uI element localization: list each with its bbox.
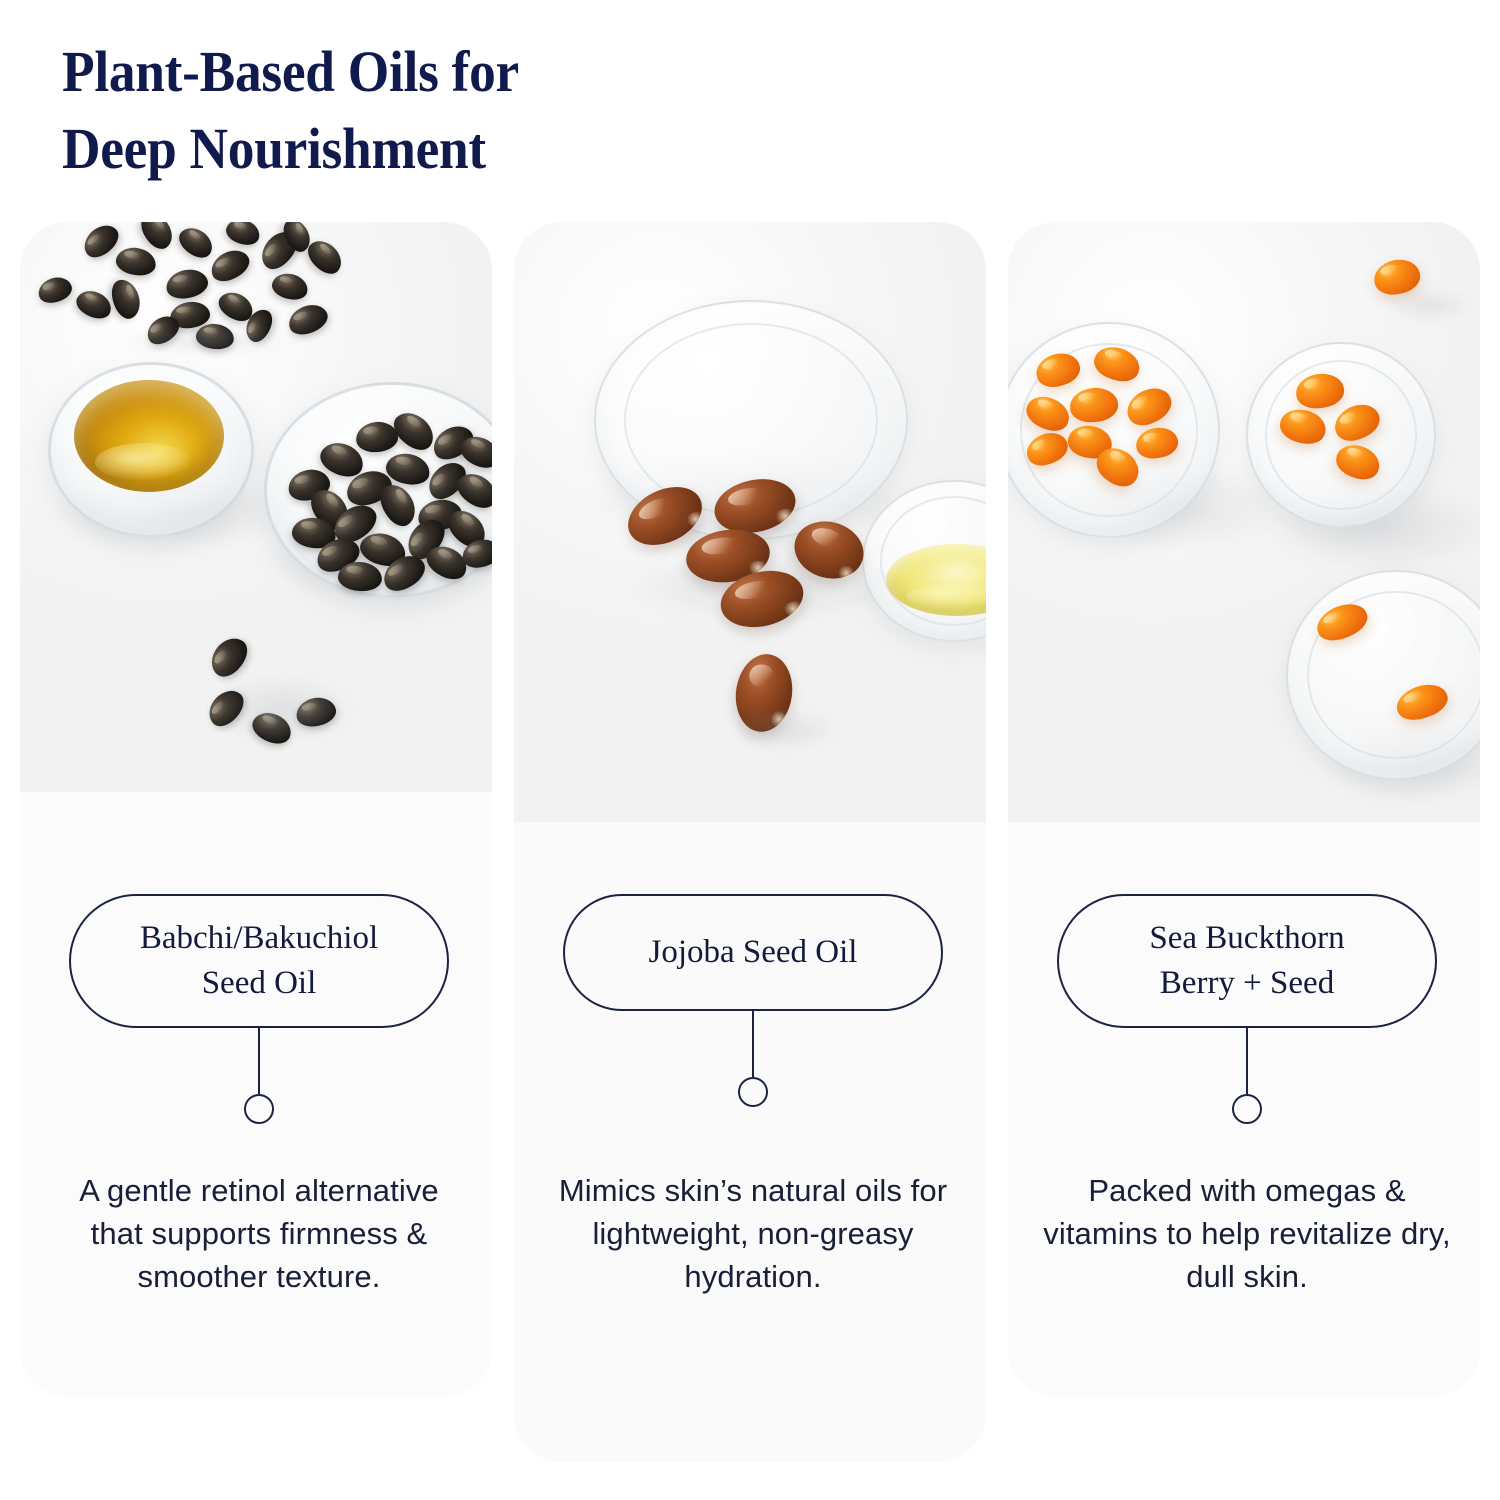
ingredient-pill-babchi[interactable]: Babchi/Bakuchiol Seed Oil bbox=[69, 894, 449, 1028]
connector-line bbox=[1246, 1028, 1248, 1094]
connector-node-circle bbox=[1232, 1094, 1262, 1124]
connector-node-circle bbox=[244, 1094, 274, 1124]
label-group-jojoba: Jojoba Seed Oil bbox=[514, 894, 986, 1107]
page-title-line-2: Deep Nourishment bbox=[62, 111, 890, 188]
ingredient-description-babchi: A gentle retinol alternative that suppor… bbox=[50, 1170, 468, 1298]
pill-line-2: Berry + Seed bbox=[1160, 965, 1334, 1001]
ingredient-card-babchi[interactable]: Babchi/Bakuchiol Seed Oil A gentle retin… bbox=[20, 222, 492, 1397]
ingredient-pill-jojoba[interactable]: Jojoba Seed Oil bbox=[563, 894, 943, 1011]
label-group-babchi: Babchi/Bakuchiol Seed Oil bbox=[20, 894, 492, 1124]
ingredient-card-grid: Babchi/Bakuchiol Seed Oil A gentle retin… bbox=[20, 222, 1480, 1472]
babchi-oil bbox=[74, 380, 224, 492]
pill-line-2: Seed Oil bbox=[202, 965, 317, 1001]
ingredient-photo-sea-buckthorn bbox=[1008, 222, 1480, 822]
ingredient-description-sea-buckthorn: Packed with omegas & vitamins to help re… bbox=[1038, 1170, 1456, 1298]
ingredient-pill-sea-buckthorn[interactable]: Sea Buckthorn Berry + Seed bbox=[1057, 894, 1437, 1028]
pill-line-1: Sea Buckthorn bbox=[1149, 920, 1344, 956]
pill-line-1: Babchi/Bakuchiol bbox=[140, 920, 378, 956]
ingredient-description-jojoba: Mimics skin’s natural oils for lightweig… bbox=[544, 1170, 962, 1298]
label-group-sea-buckthorn: Sea Buckthorn Berry + Seed bbox=[1008, 894, 1480, 1124]
pill-line-1: Jojoba Seed Oil bbox=[649, 934, 858, 970]
infographic-page: Plant-Based Oils for Deep Nourishment bbox=[0, 0, 1500, 1500]
connector-line bbox=[258, 1028, 260, 1094]
ingredient-photo-jojoba bbox=[514, 222, 986, 822]
connector-node-circle bbox=[738, 1077, 768, 1107]
ingredient-card-jojoba[interactable]: Jojoba Seed Oil Mimics skin’s natural oi… bbox=[514, 222, 986, 1462]
connector-line bbox=[752, 1011, 754, 1077]
ingredient-card-sea-buckthorn[interactable]: Sea Buckthorn Berry + Seed Packed with o… bbox=[1008, 222, 1480, 1397]
page-title: Plant-Based Oils for Deep Nourishment bbox=[62, 34, 890, 187]
ingredient-photo-babchi bbox=[20, 222, 492, 792]
page-title-line-1: Plant-Based Oils for bbox=[62, 34, 890, 111]
